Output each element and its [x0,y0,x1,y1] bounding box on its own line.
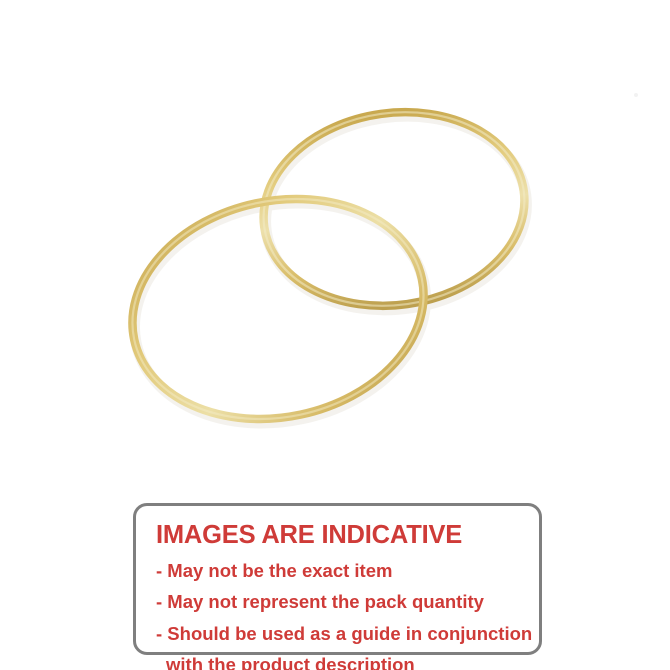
notice-line-1: - May not be the exact item [156,562,539,581]
notice-line-4: with the product description [166,656,539,670]
product-photo [0,0,670,480]
o-rings-illustration [0,0,670,480]
notice-line-3: - Should be used as a guide in conjuncti… [156,625,539,644]
screenshot-canvas: IMAGES ARE INDICATIVE - May not be the e… [0,0,670,670]
notice-line-2: - May not represent the pack quantity [156,593,539,612]
upper-right-o-ring [251,96,537,323]
dust-speck-icon [634,93,638,97]
notice-heading: IMAGES ARE INDICATIVE [156,523,539,549]
images-are-indicative-notice: IMAGES ARE INDICATIVE - May not be the e… [133,503,542,655]
